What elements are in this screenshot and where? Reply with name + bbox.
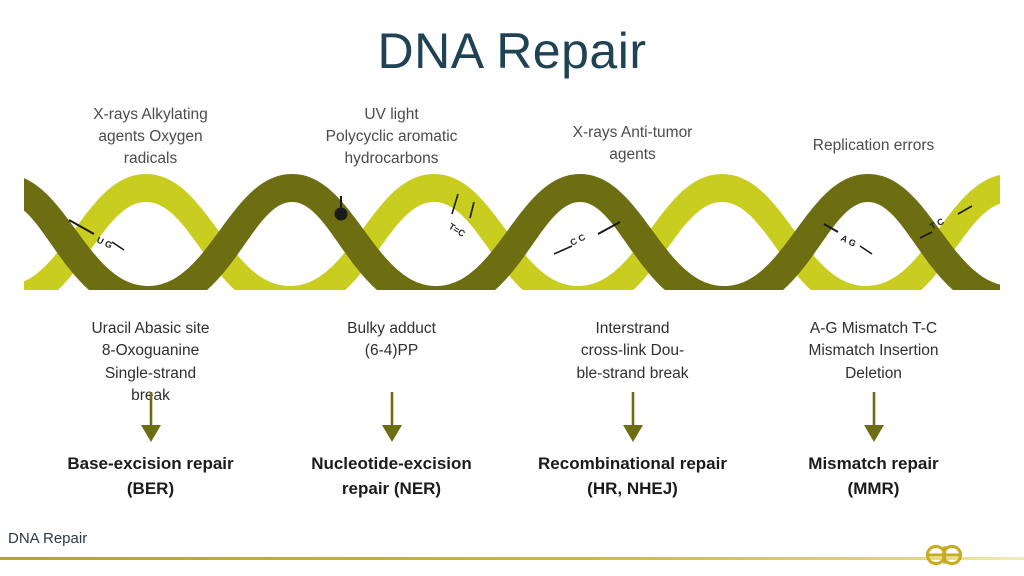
arrow-cell-4	[753, 392, 994, 442]
base-pair-label-4: A G	[839, 233, 858, 249]
agent-label-4-line-1: Replication errors	[759, 135, 988, 157]
damage-label-4-line-1: A-G Mismatch T-C	[759, 318, 988, 340]
agent-label-3-line-2: agents	[518, 144, 747, 166]
down-arrow-icon-3	[620, 392, 646, 442]
repair-label-3-line-1: Recombinational repair	[518, 452, 747, 477]
footer-divider	[0, 557, 1024, 560]
geeksforgeeks-logo	[912, 536, 976, 576]
agent-column-4: Replication errors	[753, 104, 994, 170]
repair-label-3-line-2: (HR, NHEJ)	[518, 477, 747, 502]
agent-label-1-line-1: X-rays Alkylating	[36, 104, 265, 126]
repair-label-2-line-1: Nucleotide-excision	[277, 452, 506, 477]
down-arrow-icon-2	[379, 392, 405, 442]
footer-title: DNA Repair	[8, 530, 87, 547]
slide-footer: DNA Repair	[0, 514, 1024, 576]
repair-label-2-line-2: repair (NER)	[277, 477, 506, 502]
base-pair-label-2: T=C	[447, 221, 467, 239]
agent-column-3: X-rays Anti-tumor agents	[512, 104, 753, 170]
repair-label-4-line-2: (MMR)	[759, 477, 988, 502]
repair-column-3: Recombinational repair (HR, NHEJ)	[512, 452, 753, 501]
agent-label-3-line-1: X-rays Anti-tumor	[518, 122, 747, 144]
damage-label-2-line-1: Bulky adduct	[277, 318, 506, 340]
repair-pathways-row: Base-excision repair (BER) Nucleotide-ex…	[30, 452, 994, 501]
agent-column-2: UV light Polycyclic aromatic hydrocarbon…	[271, 104, 512, 170]
agent-label-1-line-3: radicals	[36, 148, 265, 170]
damage-label-4-line-2: Mismatch Insertion	[759, 340, 988, 362]
base-pair-annotation-4: A G	[824, 224, 872, 254]
damage-label-1-line-3: Single-strand	[36, 363, 265, 385]
pathway-arrows-row	[30, 392, 994, 442]
agent-label-2-line-1: UV light	[277, 104, 506, 126]
damaging-agents-row: X-rays Alkylating agents Oxygen radicals…	[30, 104, 994, 170]
damage-label-3-line-3: ble-strand break	[518, 363, 747, 385]
repair-label-1-line-1: Base-excision repair	[36, 452, 265, 477]
base-pair-label-1: U G	[95, 235, 114, 251]
repair-column-1: Base-excision repair (BER)	[30, 452, 271, 501]
base-pair-label-3: C C	[568, 232, 587, 248]
agent-column-1: X-rays Alkylating agents Oxygen radicals	[30, 104, 271, 170]
page-title: DNA Repair	[0, 22, 1024, 80]
repair-column-4: Mismatch repair (MMR)	[753, 452, 994, 501]
damage-label-3-line-1: Interstrand	[518, 318, 747, 340]
damage-label-1-line-2: 8-Oxoguanine	[36, 340, 265, 362]
slide-canvas: DNA Repair X-rays Alkylating agents Oxyg…	[0, 0, 1024, 576]
arrow-cell-1	[30, 392, 271, 442]
agent-label-2-line-2: Polycyclic aromatic	[277, 126, 506, 148]
arrow-cell-2	[271, 392, 512, 442]
damage-label-2-line-2: (6-4)PP	[277, 340, 506, 362]
dna-helix-illustration: U G T=C C C A G	[24, 168, 1000, 290]
down-arrow-icon-4	[861, 392, 887, 442]
agent-label-1-line-2: agents Oxygen	[36, 126, 265, 148]
repair-column-2: Nucleotide-excision repair (NER)	[271, 452, 512, 501]
agent-label-2-line-3: hydrocarbons	[277, 148, 506, 170]
down-arrow-icon-1	[138, 392, 164, 442]
arrow-cell-3	[512, 392, 753, 442]
repair-label-4-line-1: Mismatch repair	[759, 452, 988, 477]
damage-label-3-line-2: cross-link Dou-	[518, 340, 747, 362]
repair-label-1-line-2: (BER)	[36, 477, 265, 502]
damage-label-1-line-1: Uracil Abasic site	[36, 318, 265, 340]
base-pair-annotation-3: C C	[554, 222, 620, 254]
damage-label-4-line-3: Deletion	[759, 363, 988, 385]
